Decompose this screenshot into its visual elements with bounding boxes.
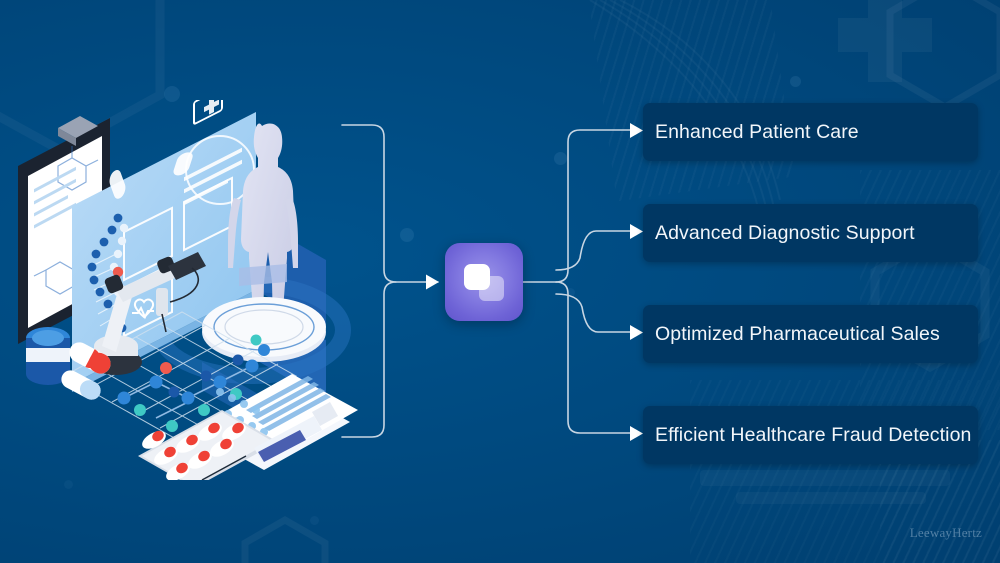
outcome-box-enhanced-patient-care[interactable]: Enhanced Patient Care xyxy=(643,103,978,161)
outcome-label: Advanced Diagnostic Support xyxy=(643,222,915,245)
outcome-box-advanced-diagnostic-support[interactable]: Advanced Diagnostic Support xyxy=(643,204,978,262)
outcome-label: Optimized Pharmaceutical Sales xyxy=(643,323,940,346)
outcome-box-optimized-pharmaceutical-sales[interactable]: Optimized Pharmaceutical Sales xyxy=(643,305,978,363)
watermark-leewayhertz: LeewayHertz xyxy=(910,525,982,541)
layers-front-square xyxy=(464,264,490,290)
outcome-label: Enhanced Patient Care xyxy=(643,121,859,144)
central-ai-node[interactable] xyxy=(445,243,523,321)
layers-copy-icon xyxy=(464,262,504,302)
diagram-canvas: Enhanced Patient Care Advanced Diagnosti… xyxy=(0,0,1000,563)
outcome-box-efficient-healthcare-fraud-detection[interactable]: Efficient Healthcare Fraud Detection xyxy=(643,406,978,464)
outcome-label: Efficient Healthcare Fraud Detection xyxy=(643,424,972,447)
